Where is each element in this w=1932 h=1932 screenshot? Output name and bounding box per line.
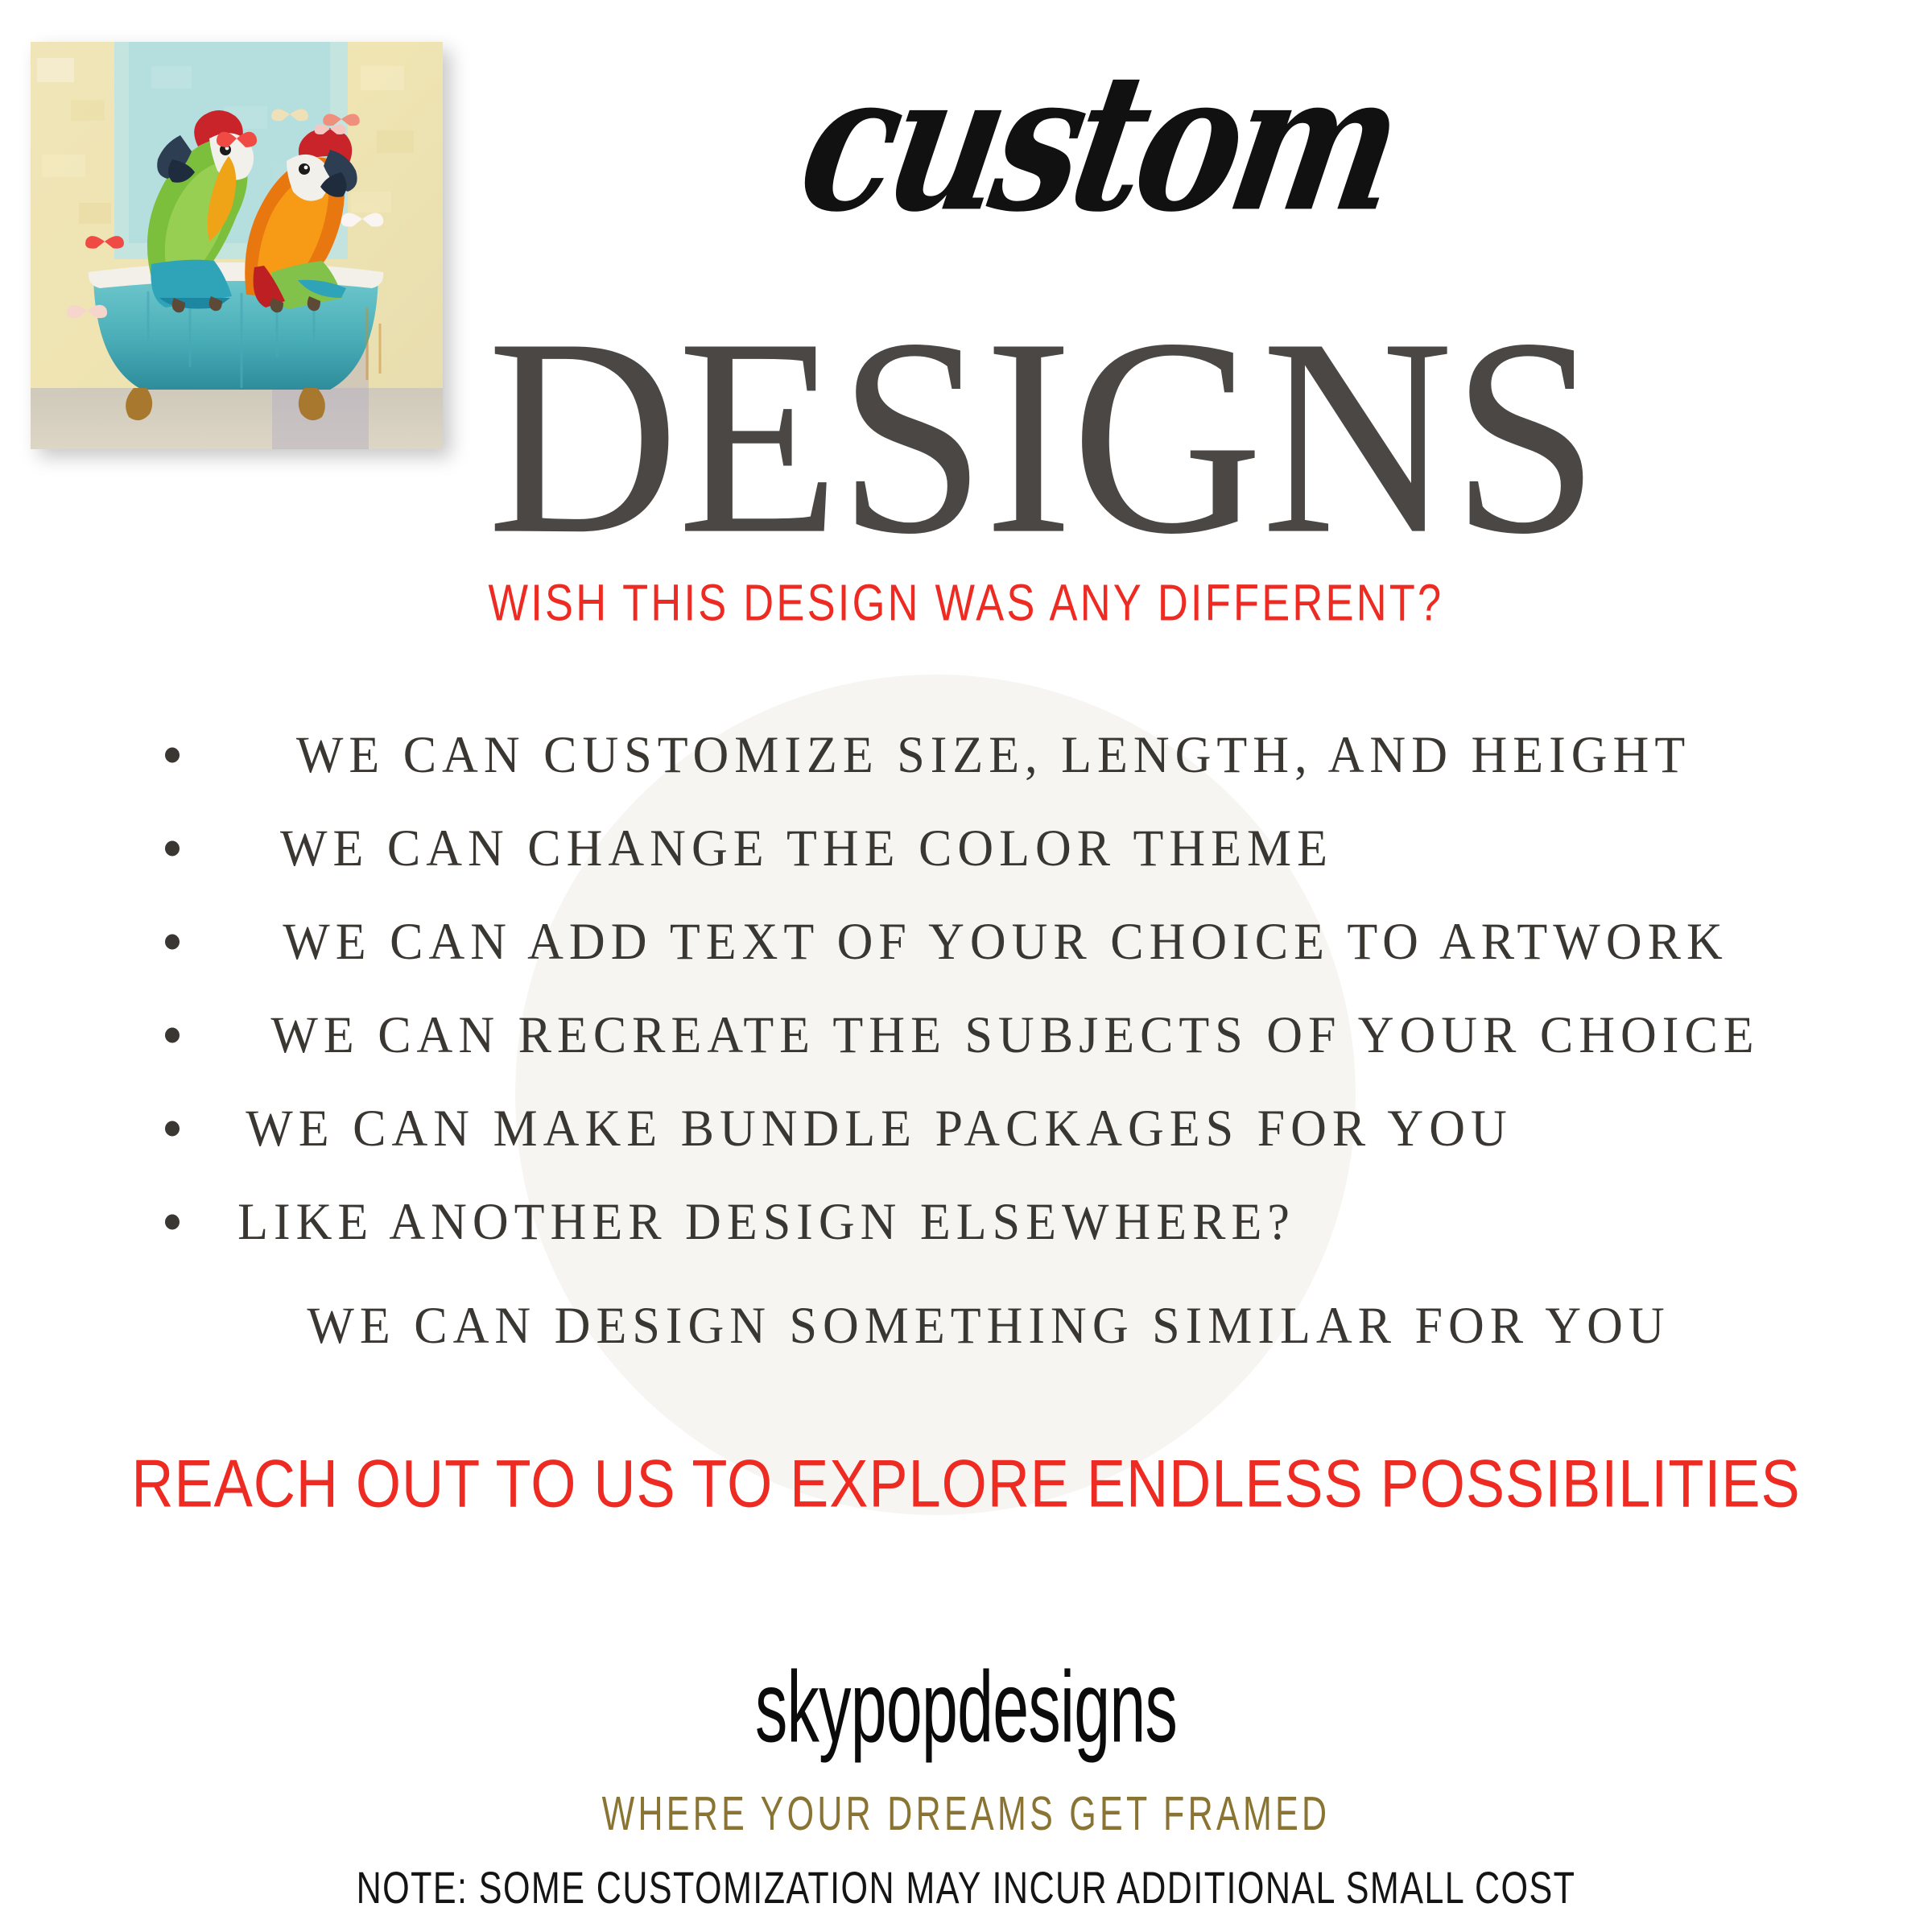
customization-options-list: WE CAN CUSTOMIZE SIZE, LENGTH, AND HEIGH… (0, 708, 1932, 1269)
list-item: WE CAN CHANGE THE COLOR THEME (0, 799, 1932, 898)
parrots-in-bathtub-painting (31, 42, 443, 449)
heading-main-word: DESIGNS (487, 305, 1597, 570)
list-item-label: WE CAN ADD TEXT OF YOUR CHOICE TO ARTWOR… (231, 915, 1728, 968)
bullet-dot-icon (165, 841, 180, 857)
list-item: WE CAN MAKE BUNDLE PACKAGES FOR YOU (0, 1080, 1932, 1178)
list-item-continuation: WE CAN DESIGN SOMETHING SIMILAR FOR YOU (0, 1299, 1932, 1352)
list-item: WE CAN CUSTOMIZE SIZE, LENGTH, AND HEIGH… (0, 706, 1932, 804)
list-item-label: WE CAN CUSTOMIZE SIZE, LENGTH, AND HEIGH… (245, 729, 1690, 781)
list-item-label: WE CAN MAKE BUNDLE PACKAGES FOR YOU (194, 1102, 1513, 1154)
custom-designs-promo-page: custom DESIGNS WISH THIS DESIGN WAS ANY … (0, 0, 1932, 1932)
footer-note: NOTE: SOME CUSTOMIZATION MAY INCUR ADDIT… (116, 1863, 1816, 1914)
subtitle-question: WISH THIS DESIGN WAS ANY DIFFERENT? (77, 573, 1855, 633)
list-item-label: LIKE ANOTHER DESIGN ELSEWHERE? (186, 1195, 1295, 1248)
call-to-action-text: REACH OUT TO US TO EXPLORE ENDLESS POSSI… (48, 1446, 1884, 1523)
artwork-thumbnail[interactable] (31, 42, 443, 449)
list-item: WE CAN ADD TEXT OF YOUR CHOICE TO ARTWOR… (0, 893, 1932, 991)
bullet-dot-icon (165, 1121, 180, 1137)
list-item-label: WE CAN RECREATE THE SUBJECTS OF YOUR CHO… (219, 1009, 1759, 1061)
list-item-label: WE CAN CHANGE THE COLOR THEME (229, 822, 1333, 874)
brand-tagline: WHERE YOUR DREAMS GET FRAMED (135, 1786, 1797, 1841)
heading-script-word: custom (558, 48, 1409, 238)
bullet-dot-icon (165, 1215, 180, 1230)
brand-logo-wordmark: skypopdesigns (270, 1649, 1662, 1765)
bullet-dot-icon (165, 935, 180, 950)
list-item: WE CAN RECREATE THE SUBJECTS OF YOUR CHO… (0, 986, 1932, 1084)
list-item: LIKE ANOTHER DESIGN ELSEWHERE? (0, 1173, 1932, 1271)
bullet-dot-icon (165, 1028, 180, 1043)
bullet-dot-icon (165, 748, 180, 763)
